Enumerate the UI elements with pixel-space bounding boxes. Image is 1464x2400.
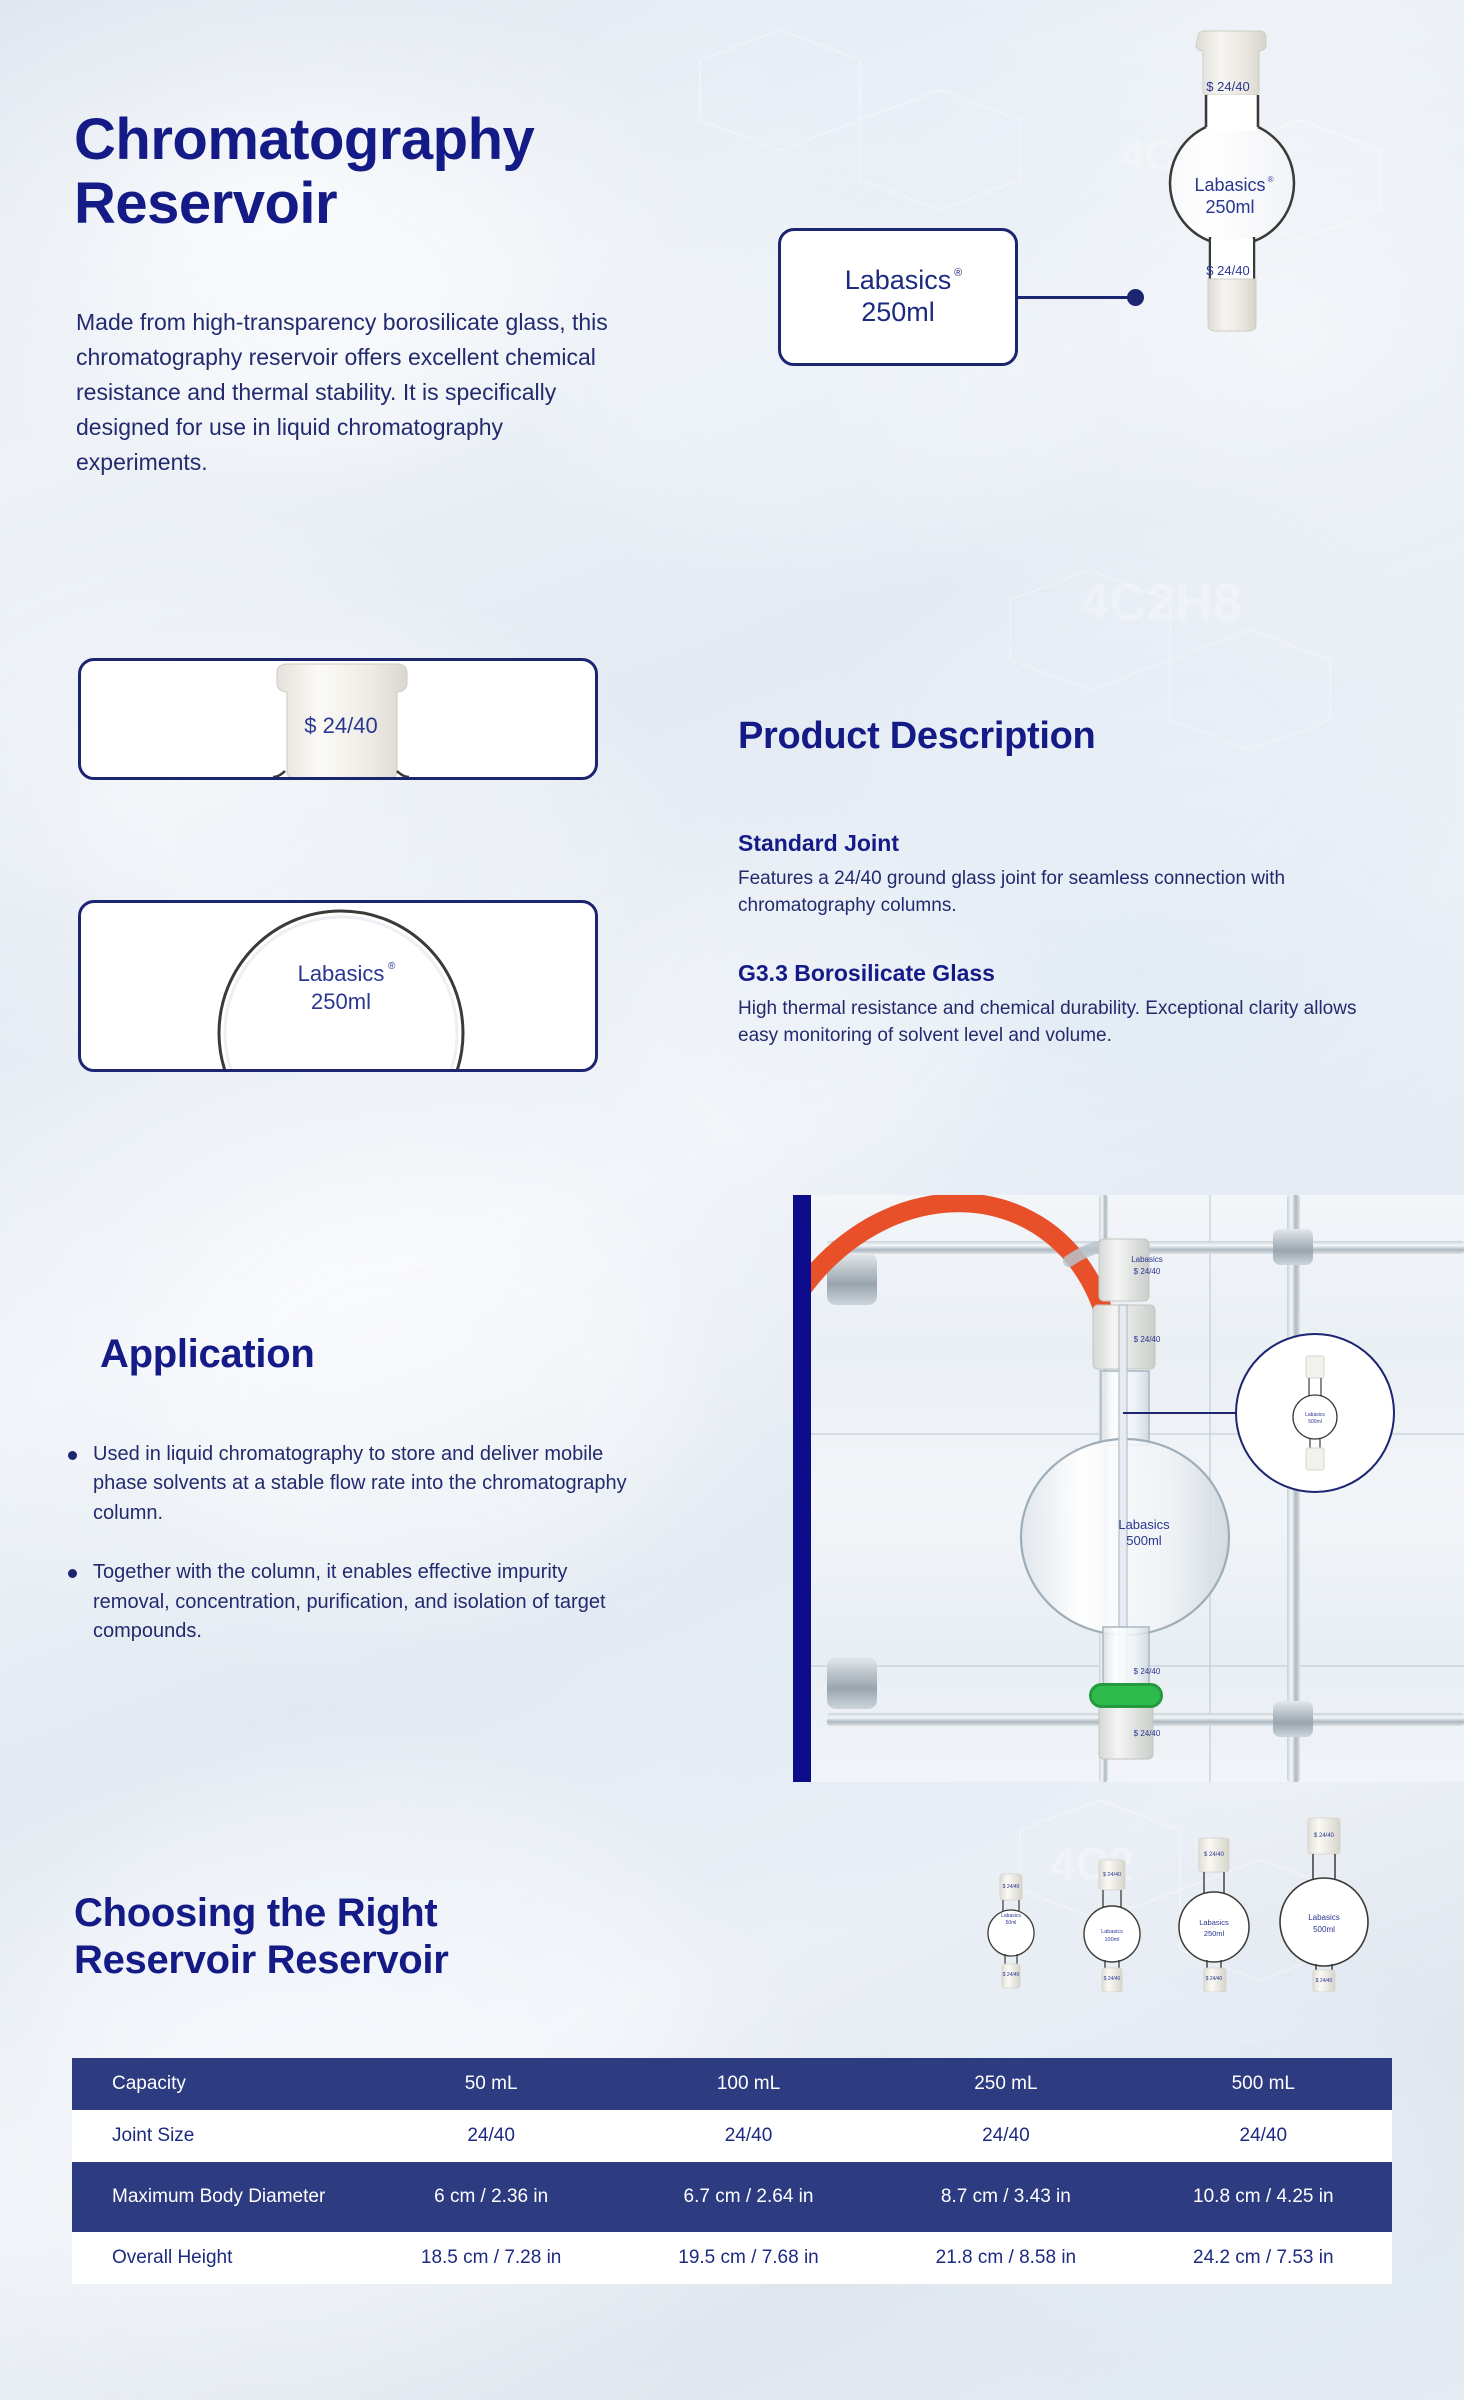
application-photo: Labasics $ 24/40 $ 24/40 Labasics500ml $… xyxy=(793,1195,1464,1782)
svg-text:50ml: 50ml xyxy=(1006,1920,1017,1926)
table-cell: 21.8 cm / 8.58 in xyxy=(877,2232,1134,2284)
page-title: Chromatography Reservoir xyxy=(74,108,534,236)
detail-card-standard-joint: $ 24/40 xyxy=(78,658,598,780)
application-bullet: Used in liquid chromatography to store a… xyxy=(68,1440,628,1528)
table-cell: 50 mL xyxy=(362,2058,619,2110)
pd-item-heading: G3.3 Borosilicate Glass xyxy=(738,960,1398,987)
table-row: Joint Size 24/40 24/40 24/40 24/40 xyxy=(72,2110,1392,2162)
bottom-section-title: Choosing the Right Reservoir Reservoir xyxy=(74,1890,449,1984)
svg-text:$ 24/40: $ 24/40 xyxy=(1204,1852,1225,1858)
product-description-item: Standard Joint Features a 24/40 ground g… xyxy=(738,830,1398,920)
lineup-flask-500ml: $ 24/40 Labasics 500ml $ 24/40 xyxy=(1280,1818,1368,1992)
application-bullet-list: Used in liquid chromatography to store a… xyxy=(68,1440,628,1676)
table-cell: 10.8 cm / 4.25 in xyxy=(1135,2162,1392,2232)
hero-flask-illustration: $ 24/40 Labasics® 250ml $ 24/40 xyxy=(1140,25,1325,375)
lineup-flask-100ml: $ 24/40 Labasics 100ml $ 24/40 xyxy=(1084,1860,1140,1992)
svg-text:Labasics: Labasics xyxy=(1001,1913,1021,1919)
registered-mark: ® xyxy=(954,267,962,280)
svg-text:Labasics: Labasics xyxy=(1101,1929,1123,1935)
pd-item-body: Features a 24/40 ground glass joint for … xyxy=(738,866,1398,920)
table-row: Overall Height 18.5 cm / 7.28 in 19.5 cm… xyxy=(72,2232,1392,2284)
hero-description: Made from high-transparency borosilicate… xyxy=(76,305,636,480)
svg-text:Labasics: Labasics xyxy=(1305,1412,1325,1418)
pd-item-heading: Standard Joint xyxy=(738,830,1398,857)
lineup-flask-250ml: $ 24/40 Labasics 250ml $ 24/40 xyxy=(1179,1838,1249,1992)
callout-brand: Labasics® xyxy=(845,265,952,297)
svg-text:500ml: 500ml xyxy=(1313,1925,1335,1934)
application-bullet: Together with the column, it enables eff… xyxy=(68,1558,628,1646)
application-bullet-text: Used in liquid chromatography to store a… xyxy=(93,1440,628,1528)
detail-card-flask-body: Labasics® 250ml xyxy=(78,900,598,1072)
application-bullet-text: Together with the column, it enables eff… xyxy=(93,1558,628,1646)
specification-table: Capacity 50 mL 100 mL 250 mL 500 mL Join… xyxy=(72,2058,1392,2284)
table-row: Maximum Body Diameter 6 cm / 2.36 in 6.7… xyxy=(72,2162,1392,2232)
svg-text:$ 24/40: $ 24/40 xyxy=(1316,1978,1333,1984)
svg-text:$ 24/40: $ 24/40 xyxy=(1314,1833,1335,1839)
callout-volume: 250ml xyxy=(861,297,935,329)
keck-clip xyxy=(1089,1683,1163,1708)
table-cell: 6.7 cm / 2.64 in xyxy=(620,2162,877,2232)
svg-text:Labasics: Labasics xyxy=(1308,1913,1340,1922)
callout-leader-line xyxy=(1018,296,1138,299)
table-cell: 24/40 xyxy=(362,2110,619,2162)
circle-callout-leader-line xyxy=(1123,1412,1237,1414)
application-title: Application xyxy=(100,1332,314,1377)
svg-text:Labasics: Labasics xyxy=(1199,1918,1229,1927)
circle-callout: Labasics 500ml xyxy=(1235,1333,1395,1493)
infographic-page: Chromatography Reservoir Made from high-… xyxy=(0,0,1464,2400)
table-cell: 100 mL xyxy=(620,2058,877,2110)
svg-text:$ 24/40: $ 24/40 xyxy=(1206,1976,1223,1982)
table-cell: 250 mL xyxy=(877,2058,1134,2110)
table-cell: 6 cm / 2.36 in xyxy=(362,2162,619,2232)
table-cell: 24/40 xyxy=(877,2110,1134,2162)
photo-accent-bar xyxy=(793,1195,811,1782)
reservoir-size-lineup: $ 24/40 Labasics 50ml $ 24/40 $ 24/40 La… xyxy=(968,1812,1388,1997)
bullet-dot-icon xyxy=(68,1569,77,1578)
product-description-title: Product Description xyxy=(738,715,1095,758)
pd-item-body: High thermal resistance and chemical dur… xyxy=(738,996,1398,1050)
table-row-header: Maximum Body Diameter xyxy=(72,2162,362,2232)
table-cell: 24/40 xyxy=(1135,2110,1392,2162)
photo-backdrop: Labasics $ 24/40 $ 24/40 Labasics500ml $… xyxy=(811,1195,1464,1782)
table-row-header: Capacity xyxy=(72,2058,362,2110)
lineup-flask-50ml: $ 24/40 Labasics 50ml $ 24/40 xyxy=(988,1874,1034,1988)
svg-text:250ml: 250ml xyxy=(1204,1929,1225,1938)
svg-text:100ml: 100ml xyxy=(1105,1937,1120,1943)
table-cell: 24/40 xyxy=(620,2110,877,2162)
product-description-item: G3.3 Borosilicate Glass High thermal res… xyxy=(738,960,1398,1050)
svg-text:500ml: 500ml xyxy=(1308,1419,1322,1425)
table-row: Capacity 50 mL 100 mL 250 mL 500 mL xyxy=(72,2058,1392,2110)
bullet-dot-icon xyxy=(68,1451,77,1460)
table-cell: 500 mL xyxy=(1135,2058,1392,2110)
svg-text:$ 24/40: $ 24/40 xyxy=(1003,1884,1020,1890)
table-cell: 19.5 cm / 7.68 in xyxy=(620,2232,877,2284)
table-cell: 8.7 cm / 3.43 in xyxy=(877,2162,1134,2232)
table-row-header: Overall Height xyxy=(72,2232,362,2284)
svg-text:$ 24/40: $ 24/40 xyxy=(1103,1872,1121,1878)
svg-text:$ 24/40: $ 24/40 xyxy=(1003,1972,1020,1978)
hero-callout-card: Labasics® 250ml xyxy=(778,228,1018,366)
table-cell: 24.2 cm / 7.53 in xyxy=(1135,2232,1392,2284)
svg-text:$ 24/40: $ 24/40 xyxy=(1104,1976,1121,1982)
table-row-header: Joint Size xyxy=(72,2110,362,2162)
table-cell: 18.5 cm / 7.28 in xyxy=(362,2232,619,2284)
